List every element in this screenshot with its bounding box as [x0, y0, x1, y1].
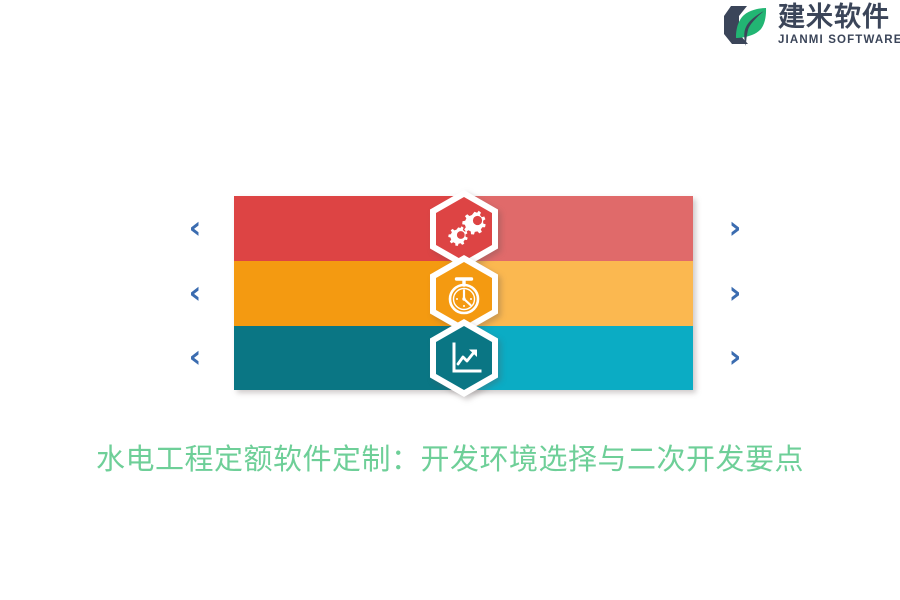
brand-text: 建米软件 JIANMI SOFTWARE — [778, 4, 900, 47]
growth-chart-icon[interactable] — [428, 318, 500, 398]
brand-name-cn: 建米软件 — [778, 4, 900, 31]
infographic-row-process[interactable] — [234, 196, 693, 261]
prev-arrow-icon-3[interactable]: ‹ — [180, 325, 210, 390]
next-arrow-icon-2[interactable]: › — [720, 261, 750, 326]
prev-arrow-icon-1[interactable]: ‹ — [180, 196, 210, 261]
infographic-banner — [234, 196, 693, 390]
next-arrow-icon-3[interactable]: › — [720, 325, 750, 390]
next-arrow-column: › › › — [720, 196, 750, 390]
jianmi-leaf-logo-icon — [722, 2, 770, 48]
brand-logo[interactable]: 建米软件 JIANMI SOFTWARE — [722, 0, 900, 50]
page-title: 水电工程定额软件定制：开发环境选择与二次开发要点 — [0, 436, 900, 478]
prev-arrow-icon-2[interactable]: ‹ — [180, 261, 210, 326]
next-arrow-icon-1[interactable]: › — [720, 196, 750, 261]
prev-arrow-column: ‹ ‹ ‹ — [180, 196, 210, 390]
brand-name-en: JIANMI SOFTWARE — [778, 35, 900, 47]
infographic-row-efficiency[interactable] — [234, 261, 693, 326]
infographic-row-growth[interactable] — [234, 326, 693, 390]
